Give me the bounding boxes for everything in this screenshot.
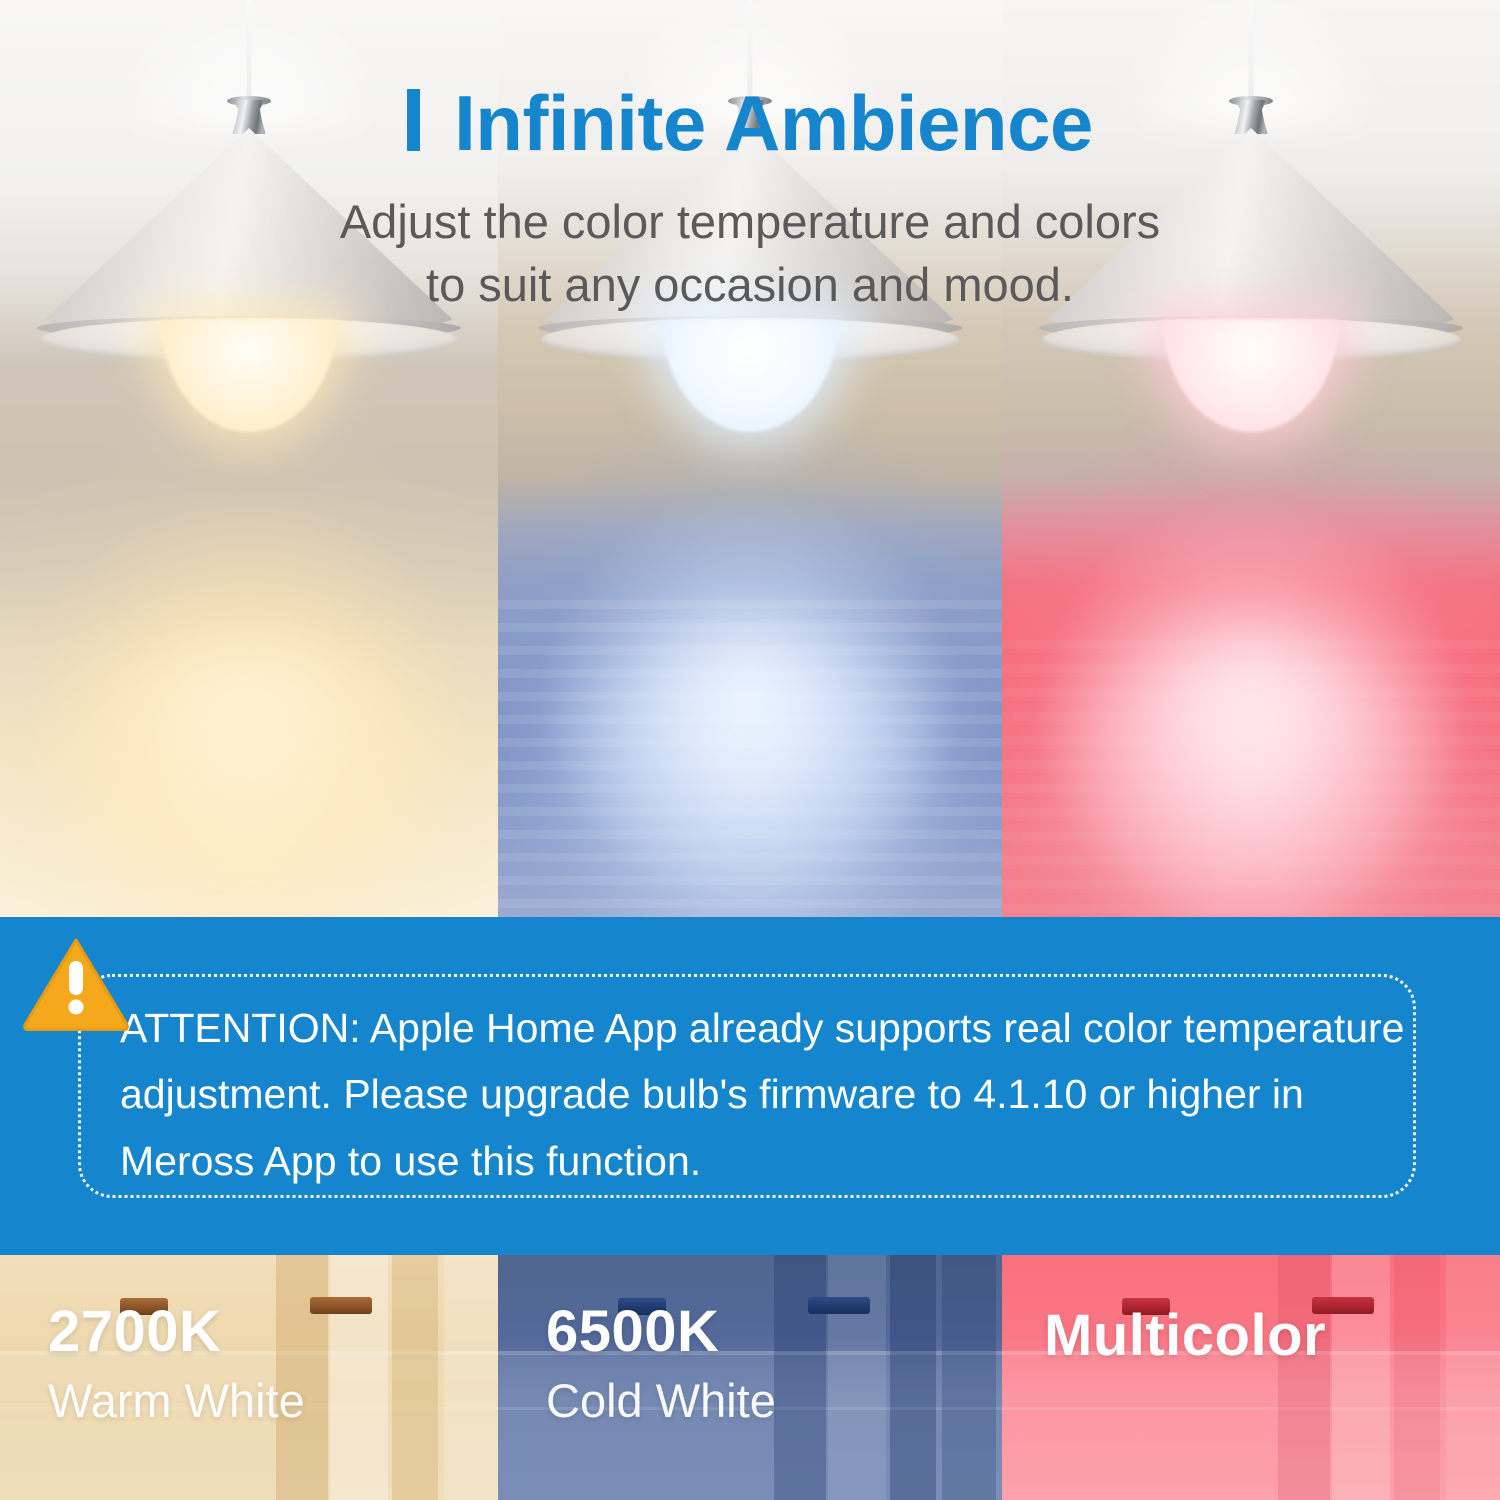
swatch-kelvin-value: 6500K [546,1303,776,1361]
light-bulb-warm [161,320,337,432]
color-swatch-strip: 2700K Warm White 6500K Cold White [0,1255,1500,1500]
page-title-text: Infinite Ambience [454,83,1093,165]
swatch-warm-white[interactable]: 2700K Warm White [0,1255,498,1500]
swatch-multicolor[interactable]: Multicolor [1002,1255,1500,1500]
door-slab [1394,1255,1440,1500]
swatch-name-label: Warm White [48,1361,305,1424]
swatch-kelvin-value: 2700K [48,1303,305,1361]
page-subtitle-line-1: Adjust the color temperature and colors [340,195,1160,248]
hero-section: Infinite Ambience Adjust the color tempe… [0,0,1500,917]
door-hook-icon [310,1297,372,1314]
door-slab [774,1255,826,1500]
door-slab [1332,1255,1390,1500]
attention-banner: ATTENTION: Apple Home App already suppor… [0,917,1500,1255]
light-bulb-cold [662,320,838,432]
door-slab [392,1255,438,1500]
swatch-labels: 2700K Warm White [48,1303,305,1424]
hero-text-block: Infinite Ambience Adjust the color tempe… [0,0,1500,316]
swatch-labels: 6500K Cold White [546,1303,776,1424]
product-feature-page: Infinite Ambience Adjust the color tempe… [0,0,1500,1500]
door-slab [330,1255,388,1500]
door-slab [890,1255,936,1500]
swatch-cold-white[interactable]: 6500K Cold White [498,1255,1002,1500]
page-title: Infinite Ambience [0,0,1500,165]
door-slab [828,1255,886,1500]
swatch-kelvin-value: Multicolor [1044,1307,1326,1365]
attention-message: ATTENTION: Apple Home App already suppor… [120,995,1420,1194]
warning-triangle-icon [22,935,130,1031]
door-slab [1446,1255,1500,1500]
page-subtitle-line-2: to suit any occasion and mood. [426,258,1074,311]
swatch-name-label: Cold White [546,1361,776,1424]
door-slab [444,1255,498,1500]
door-slab [942,1255,996,1500]
title-accent-bar [407,89,420,151]
page-subtitle: Adjust the color temperature and colors … [0,165,1500,316]
light-bulb-multicolor [1163,320,1339,432]
door-hook-icon [808,1297,870,1314]
swatch-labels: Multicolor [1044,1307,1326,1381]
